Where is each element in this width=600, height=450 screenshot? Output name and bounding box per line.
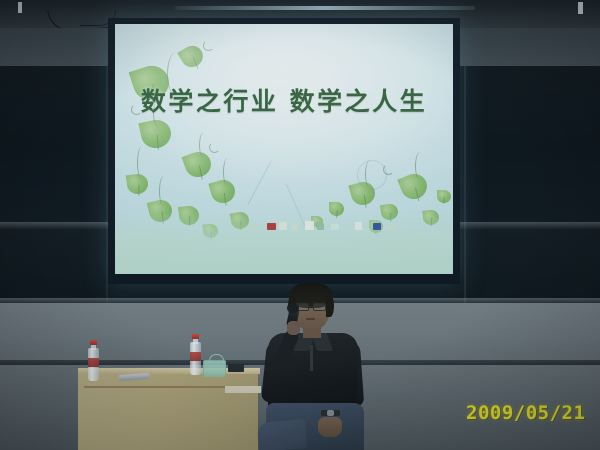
bottle-cap: [90, 340, 97, 345]
ceiling-fixture-left: [18, 2, 22, 13]
knee: [257, 419, 307, 450]
bottle-label: [88, 358, 99, 367]
vine-decoration: [137, 146, 147, 180]
vine-decoration: [223, 158, 232, 186]
leaf-icon: [182, 148, 215, 180]
hand-holding-microphone: [287, 321, 300, 335]
ceiling-light-strip: [175, 6, 475, 10]
bottle-label: [190, 352, 201, 361]
slide-title: 数学之行业 数学之人生: [115, 82, 453, 118]
projection-screen-frame: 数学之行业 数学之人生: [108, 18, 460, 284]
hair-side-right: [326, 295, 334, 317]
mouth: [306, 318, 315, 320]
camera-timestamp: 2009/05/21: [466, 402, 585, 424]
village-house: [267, 223, 276, 230]
wristwatch-face: [327, 410, 334, 416]
vine-decoration: [199, 132, 209, 158]
vine-curl-icon: [203, 40, 214, 51]
village-house: [331, 224, 339, 230]
hand-on-knee: [318, 417, 342, 437]
village-house: [355, 222, 362, 230]
glasses-lens-right: [313, 303, 326, 311]
leaf-icon: [437, 190, 451, 203]
dark-object-on-podium: [228, 364, 244, 372]
shirt-placket: [310, 345, 313, 371]
projection-screen: 数学之行业 数学之人生: [115, 24, 453, 274]
village-house: [387, 224, 394, 230]
village-house: [305, 221, 314, 230]
water-bottle-left: [88, 340, 99, 381]
village-house: [317, 223, 324, 230]
village-house: [291, 224, 298, 230]
leaf-icon: [397, 170, 430, 203]
village-house: [249, 224, 256, 230]
leaf-icon: [208, 177, 237, 206]
village-house: [373, 223, 381, 230]
photograph-scene: 数学之行业 数学之人生: [0, 0, 600, 450]
bottle-cap: [192, 334, 199, 339]
vine-curl-icon: [209, 142, 220, 153]
podium-paper: [225, 386, 261, 393]
speaker: [258, 285, 378, 450]
sketch-circle: [357, 160, 387, 190]
ceiling-fixture-right: [578, 2, 583, 14]
vine-decoration: [415, 152, 425, 180]
glasses-bridge: [309, 306, 313, 307]
wall-seam-right: [464, 66, 466, 303]
village-house: [279, 222, 287, 230]
podium: [78, 371, 258, 450]
green-bag: [203, 360, 226, 377]
microphone-head-icon: [287, 303, 299, 313]
water-bottle-right: [190, 334, 201, 375]
vine-decoration: [159, 176, 168, 206]
